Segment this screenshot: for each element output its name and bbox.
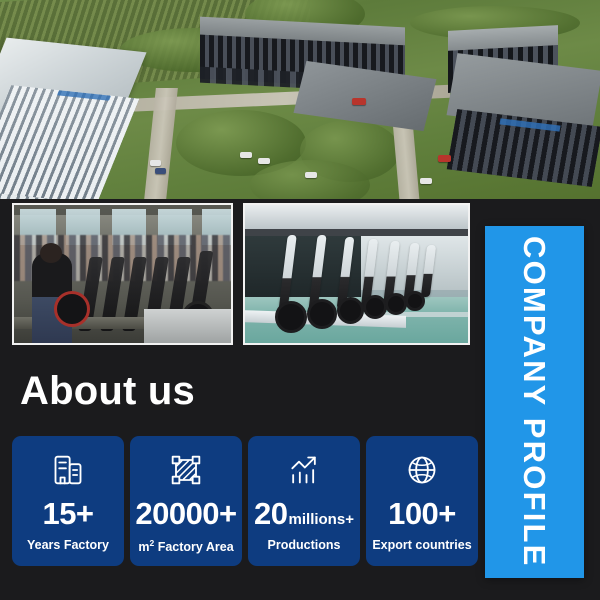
stats-card-group: 15+ Years Factory 20000+ m2 Factory A: [12, 436, 478, 566]
parked-vehicle: [438, 155, 451, 162]
stat-value: 20000+: [135, 498, 236, 529]
stat-label-text: Factory Area: [158, 540, 234, 554]
stat-value-number: 15+: [42, 498, 93, 529]
stat-value-suffix: millions+: [289, 512, 354, 527]
stat-card-productions: 20millions+ Productions: [248, 436, 360, 566]
assembly-worker-head: [40, 243, 62, 263]
company-profile-banner-label: COMPANY PROFILE: [519, 236, 550, 568]
stat-label: Export countries: [372, 538, 471, 552]
growth-chart-icon: [284, 449, 324, 491]
stat-value-number: 100+: [388, 498, 456, 529]
parked-vehicle: [240, 152, 252, 158]
stat-card-years-factory: 15+ Years Factory: [12, 436, 124, 566]
parked-vehicle: [258, 158, 270, 164]
factory-assembly-line-photo: [12, 203, 233, 345]
scooter-wheel: [275, 301, 307, 333]
parked-vehicle: [150, 160, 161, 166]
scooter-wheel: [307, 299, 337, 329]
stat-value: 100+: [388, 498, 456, 529]
parked-vehicle: [305, 172, 317, 178]
stat-value: 20millions+: [254, 498, 354, 529]
stat-label-unit: m: [138, 540, 149, 554]
area-measure-icon: [166, 449, 206, 491]
parked-vehicle: [420, 178, 432, 184]
scooter-wheel: [337, 297, 364, 324]
stat-label: Productions: [268, 538, 341, 552]
parked-vehicle: [155, 168, 166, 174]
parked-vehicle: [352, 98, 366, 105]
scooter-wheel: [363, 295, 387, 319]
stat-card-export-countries: 100+ Export countries: [366, 436, 478, 566]
scooter-wheel: [405, 291, 425, 311]
overhead-rail: [245, 229, 468, 236]
showroom-ceiling: [245, 205, 468, 231]
company-profile-banner: COMPANY PROFILE: [485, 226, 584, 578]
stat-value-number: 20: [254, 498, 287, 529]
buildings-icon: [48, 449, 88, 491]
hero-aerial-photo: [0, 0, 600, 199]
page-title: About us: [20, 369, 195, 413]
stat-label-exponent: 2: [149, 538, 154, 548]
stat-value: 15+: [42, 498, 93, 529]
scooter-showroom-photo: [243, 203, 470, 345]
stat-label: m2 Factory Area: [138, 538, 233, 554]
stat-card-factory-area: 20000+ m2 Factory Area: [130, 436, 242, 566]
globe-icon: [402, 449, 442, 491]
company-profile-page: COMPANY PROFILE About us 15+ Years F: [0, 0, 600, 600]
stat-value-number: 20000+: [135, 498, 236, 529]
scooter-wheel: [385, 293, 407, 315]
stat-label: Years Factory: [27, 538, 109, 552]
work-table: [144, 309, 233, 343]
scooter-wheel: [54, 291, 90, 327]
